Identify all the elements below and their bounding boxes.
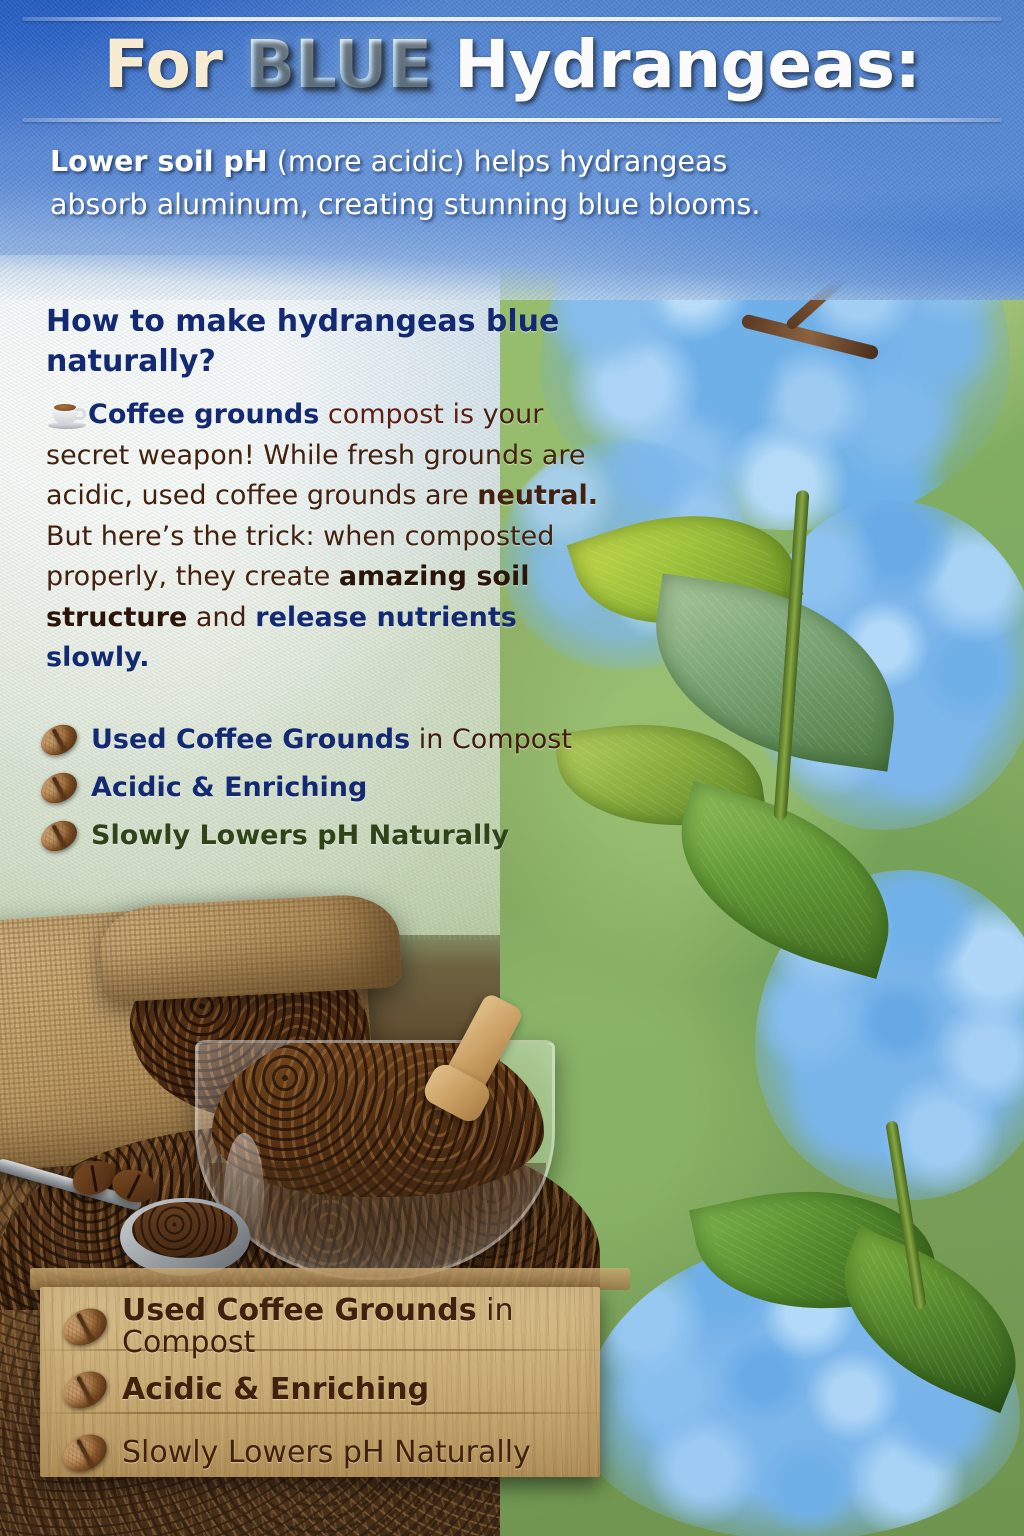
header-rule-bottom	[22, 118, 1002, 122]
list-item: Acidic & Enriching	[62, 1358, 600, 1421]
coffee-bean-icon	[57, 1301, 114, 1353]
wood-item-1-bold: Acidic & Enriching	[122, 1372, 429, 1407]
mid-item-0-bold: Used Coffee Grounds	[91, 724, 410, 755]
mid-item-2-bold: Slowly Lowers pH Naturally	[91, 820, 509, 851]
spoon-grounds	[132, 1202, 238, 1258]
coffee-cup-icon	[46, 399, 86, 429]
wood-benefit-list: Used Coffee Grounds in Compost Acidic & …	[62, 1295, 600, 1477]
body-seg-neutral: neutral.	[477, 480, 598, 511]
intro-lead: Lower soil pH	[50, 145, 268, 178]
title-word-blue: BLUE	[245, 26, 432, 103]
wood-item-2-rest: Slowly Lowers pH Naturally	[122, 1435, 531, 1470]
list-item: Slowly Lowers pH Naturally	[62, 1421, 600, 1477]
intro-paragraph: Lower soil pH (more acidic) helps hydran…	[50, 140, 790, 226]
title-word-hydrangeas: Hydrangeas:	[454, 26, 920, 103]
list-item: Used Coffee Grounds in Compost	[40, 716, 640, 764]
mid-item-0-rest: in Compost	[410, 724, 572, 755]
list-item: Acidic & Enriching	[40, 764, 640, 812]
body-seg-and: and	[187, 602, 255, 633]
body-paragraph: Coffee grounds compost is your secret we…	[46, 395, 626, 679]
wood-sign-panel: Used Coffee Grounds in Compost Acidic & …	[40, 1287, 600, 1477]
burlap-sack-lip	[98, 892, 403, 1003]
coffee-bean-icon	[36, 767, 83, 810]
list-item: Slowly Lowers pH Naturally	[40, 812, 640, 860]
mid-benefit-list: Used Coffee Grounds in Compost Acidic & …	[40, 716, 640, 860]
title-word-for: For	[104, 26, 223, 103]
coffee-bean-icon	[57, 1427, 114, 1477]
coffee-grounds-photo	[0, 890, 640, 1310]
mid-item-1-bold: Acidic & Enriching	[91, 772, 367, 803]
coffee-bean-icon	[57, 1364, 114, 1416]
body-seg-coffee-grounds: Coffee grounds	[88, 399, 319, 430]
wood-item-0-bold: Used Coffee Grounds	[122, 1293, 477, 1328]
page-title: For BLUE Hydrangeas:	[0, 32, 1024, 98]
question-heading: How to make hydrangeas blue naturally?	[46, 302, 586, 382]
infographic-poster: For BLUE Hydrangeas: Lower soil pH (more…	[0, 0, 1024, 1536]
coffee-bean-icon	[36, 719, 83, 762]
list-item: Used Coffee Grounds in Compost	[62, 1295, 600, 1358]
body-seg-compost-is: compost is	[319, 399, 482, 430]
coffee-bean-icon	[36, 815, 83, 858]
header-rule-top	[22, 17, 1002, 21]
